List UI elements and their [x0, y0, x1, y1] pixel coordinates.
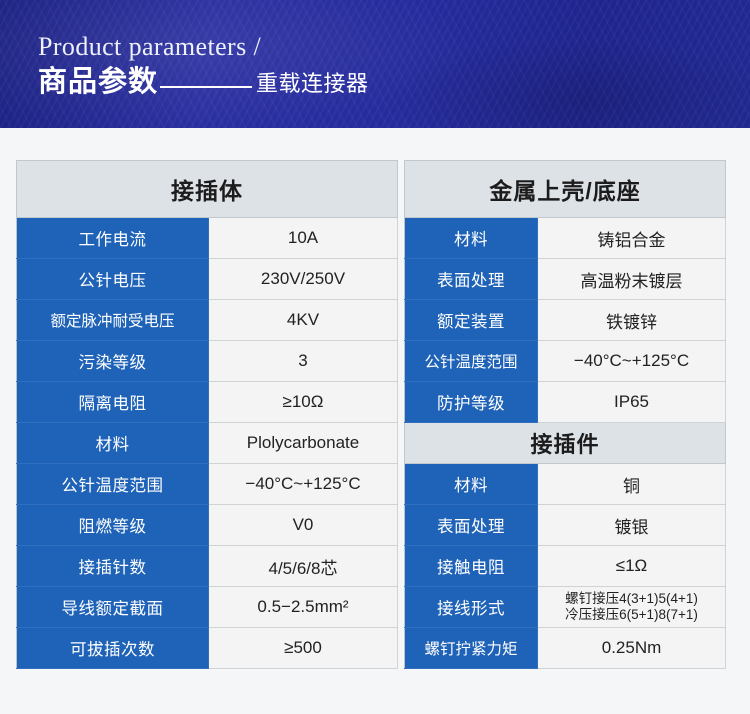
banner-chinese-title: 商品参数 — [38, 66, 158, 99]
row-label: 接线形式 — [405, 587, 538, 628]
left-section-header-row: 接插体 — [17, 161, 398, 218]
row-label: 隔离电阻 — [17, 382, 209, 423]
row-value: 铸铝合金 — [538, 218, 726, 259]
banner-text-block: Product parameters / 商品参数 重载连接器 — [38, 32, 369, 99]
row-label: 接触电阻 — [405, 546, 538, 587]
table-row: 材料 Plolycarbonate — [17, 423, 398, 464]
row-value: ≥500 — [209, 628, 398, 669]
row-label: 污染等级 — [17, 341, 209, 382]
row-value: ≥10Ω — [209, 382, 398, 423]
row-label: 阻燃等级 — [17, 505, 209, 546]
row-value: 3 — [209, 341, 398, 382]
row-value: −40°C~+125°C — [209, 464, 398, 505]
row-value: 铜 — [538, 464, 726, 505]
row-label: 接插针数 — [17, 546, 209, 587]
row-label: 导线额定截面 — [17, 587, 209, 628]
table-row: 接插针数 4/5/6/8芯 — [17, 546, 398, 587]
row-label: 材料 — [405, 464, 538, 505]
row-label: 材料 — [17, 423, 209, 464]
row-value-line-1: 螺钉接压4(3+1)5(4+1) — [542, 591, 721, 607]
row-label: 可拔插次数 — [17, 628, 209, 669]
row-label: 材料 — [405, 218, 538, 259]
table-row: 阻燃等级 V0 — [17, 505, 398, 546]
table-row: 工作电流 10A — [17, 218, 398, 259]
row-value: 0.5−2.5mm² — [209, 587, 398, 628]
row-value: 4/5/6/8芯 — [209, 546, 398, 587]
left-spec-table: 接插体 工作电流 10A 公针电压 230V/250V 额定脉冲耐受电压 4KV… — [16, 160, 398, 669]
table-row: 表面处理 高温粉末镀层 — [405, 259, 726, 300]
table-row: 公针温度范围 −40°C~+125°C — [17, 464, 398, 505]
row-label: 表面处理 — [405, 505, 538, 546]
table-row: 接线形式 螺钉接压4(3+1)5(4+1) 冷压接压6(5+1)8(7+1) — [405, 587, 726, 628]
row-value: ≤1Ω — [538, 546, 726, 587]
table-row: 隔离电阻 ≥10Ω — [17, 382, 398, 423]
row-label: 额定装置 — [405, 300, 538, 341]
table-row: 公针电压 230V/250V — [17, 259, 398, 300]
table-row: 污染等级 3 — [17, 341, 398, 382]
row-label: 防护等级 — [405, 382, 538, 423]
row-value: 10A — [209, 218, 398, 259]
row-label: 表面处理 — [405, 259, 538, 300]
spec-tables-container: 接插体 工作电流 10A 公针电压 230V/250V 额定脉冲耐受电压 4KV… — [16, 160, 724, 660]
table-row: 接触电阻 ≤1Ω — [405, 546, 726, 587]
table-row: 防护等级 IP65 — [405, 382, 726, 423]
table-row: 额定装置 铁镀锌 — [405, 300, 726, 341]
table-row: 公针温度范围 −40°C~+125°C — [405, 341, 726, 382]
table-row: 导线额定截面 0.5−2.5mm² — [17, 587, 398, 628]
row-value: 0.25Nm — [538, 628, 726, 669]
row-label: 工作电流 — [17, 218, 209, 259]
right-section-title: 金属上壳/底座 — [405, 161, 726, 218]
table-row: 材料 铸铝合金 — [405, 218, 726, 259]
row-value: Plolycarbonate — [209, 423, 398, 464]
table-row: 表面处理 镀银 — [405, 505, 726, 546]
table-row: 螺钉拧紧力矩 0.25Nm — [405, 628, 726, 669]
left-section-title: 接插体 — [17, 161, 398, 218]
right-section-header-row-2: 接插件 — [405, 423, 726, 464]
banner-subtitle: 重载连接器 — [256, 71, 369, 99]
table-row: 材料 铜 — [405, 464, 726, 505]
table-row: 额定脉冲耐受电压 4KV — [17, 300, 398, 341]
right-section-header-row: 金属上壳/底座 — [405, 161, 726, 218]
row-value: −40°C~+125°C — [538, 341, 726, 382]
row-value: 高温粉末镀层 — [538, 259, 726, 300]
row-value: 4KV — [209, 300, 398, 341]
right-section-title-2: 接插件 — [405, 423, 726, 464]
row-value-line-2: 冷压接压6(5+1)8(7+1) — [542, 607, 721, 623]
table-row: 可拔插次数 ≥500 — [17, 628, 398, 669]
page-header-banner: Product parameters / 商品参数 重载连接器 — [0, 0, 750, 128]
row-value: V0 — [209, 505, 398, 546]
banner-english-title: Product parameters / — [38, 32, 369, 61]
row-label: 螺钉拧紧力矩 — [405, 628, 538, 669]
banner-chinese-row: 商品参数 重载连接器 — [38, 66, 369, 99]
row-value: IP65 — [538, 382, 726, 423]
banner-divider-line — [160, 86, 252, 88]
right-spec-table: 金属上壳/底座 材料 铸铝合金 表面处理 高温粉末镀层 额定装置 铁镀锌 公针温… — [404, 160, 726, 669]
row-label: 公针电压 — [17, 259, 209, 300]
row-value: 镀银 — [538, 505, 726, 546]
row-value: 230V/250V — [209, 259, 398, 300]
row-value: 铁镀锌 — [538, 300, 726, 341]
row-label: 公针温度范围 — [17, 464, 209, 505]
row-value-multiline: 螺钉接压4(3+1)5(4+1) 冷压接压6(5+1)8(7+1) — [538, 587, 726, 628]
row-label: 公针温度范围 — [405, 341, 538, 382]
row-label: 额定脉冲耐受电压 — [17, 300, 209, 341]
